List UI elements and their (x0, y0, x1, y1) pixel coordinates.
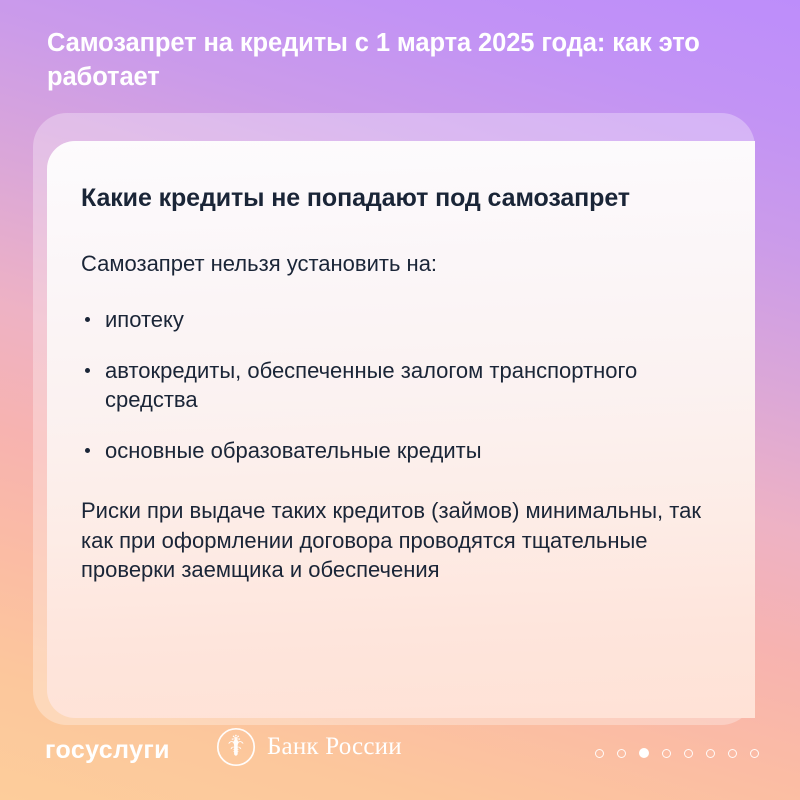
gosuslugi-logo: госуслуги (45, 736, 170, 765)
list-item-label: автокредиты, обеспеченные залогом трансп… (105, 358, 637, 412)
exclusions-list: ипотеку автокредиты, обеспеченные залого… (81, 305, 703, 466)
pagination-dot-8[interactable] (750, 749, 759, 758)
bank-of-russia-logo: Банк России (216, 727, 402, 767)
bullet-dot-icon (85, 317, 90, 322)
list-item-label: ипотеку (105, 307, 184, 332)
poster-footer: госуслуги Банк России (0, 718, 800, 800)
bullet-dot-icon (85, 448, 90, 453)
pagination-dot-1[interactable] (595, 749, 604, 758)
card-lead-text: Самозапрет нельзя установить на: (81, 250, 703, 279)
pagination-dots[interactable] (595, 748, 759, 758)
pagination-dot-4[interactable] (662, 749, 671, 758)
list-item: основные образовательные кредиты (81, 436, 703, 465)
content-card: Какие кредиты не попадают под самозапрет… (47, 141, 755, 718)
pagination-dot-3-active[interactable] (639, 748, 649, 758)
poster-title: Самозапрет на кредиты с 1 марта 2025 год… (47, 27, 707, 94)
list-item-label: основные образовательные кредиты (105, 438, 482, 463)
card-heading: Какие кредиты не попадают под самозапрет (81, 181, 703, 215)
poster-slide: Самозапрет на кредиты с 1 марта 2025 год… (0, 0, 800, 800)
pagination-dot-7[interactable] (728, 749, 737, 758)
pagination-dot-6[interactable] (706, 749, 715, 758)
pagination-dot-5[interactable] (684, 749, 693, 758)
list-item: ипотеку (81, 305, 703, 334)
card-note-text: Риски при выдаче таких кредитов (займов)… (81, 496, 703, 586)
double-headed-eagle-icon (216, 727, 256, 767)
bank-of-russia-label: Банк России (267, 733, 402, 761)
bullet-dot-icon (85, 368, 90, 373)
list-item: автокредиты, обеспеченные залогом трансп… (81, 356, 703, 415)
pagination-dot-2[interactable] (617, 749, 626, 758)
